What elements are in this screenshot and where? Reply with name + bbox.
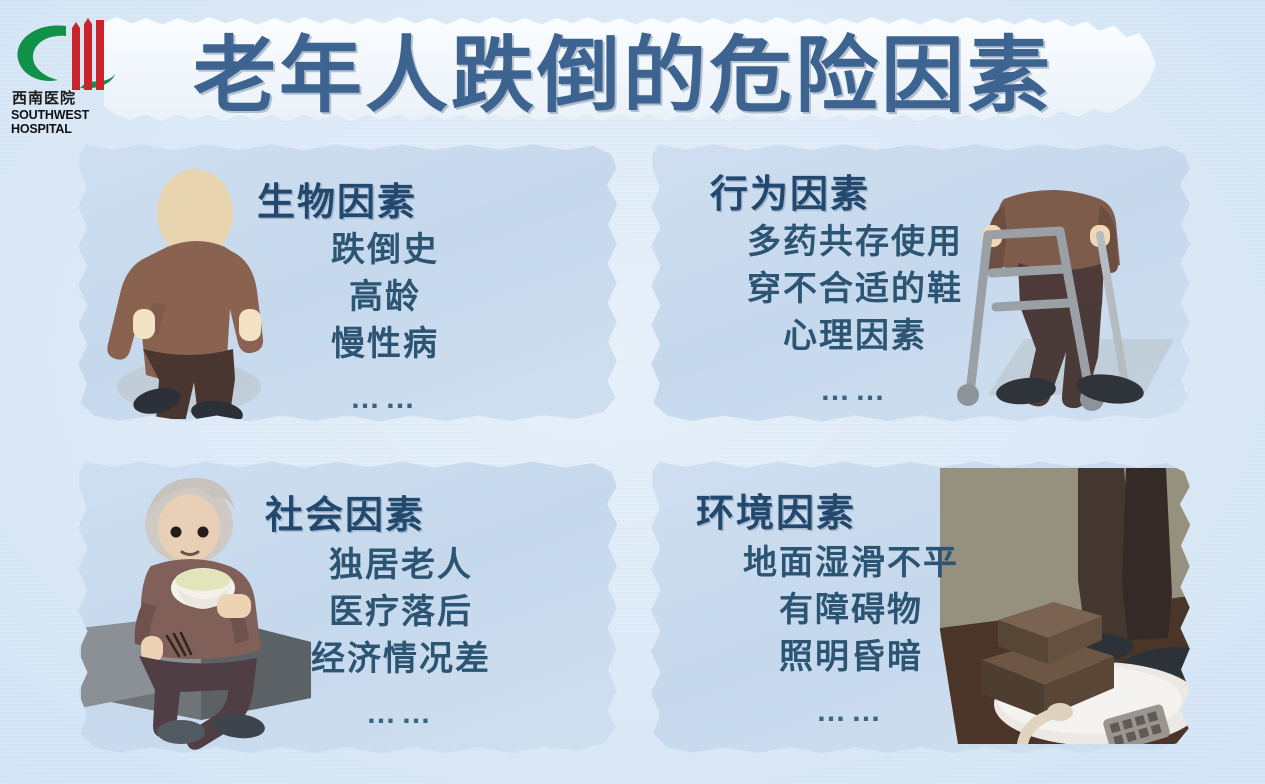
card-item: 心理因素 bbox=[783, 313, 927, 360]
factor-card-behavior[interactable]: 行为因素 多药共存使用 穿不合适的鞋 心理因素 …… bbox=[648, 143, 1193, 423]
poster-header: 老年人跌倒的危险因素 西南医院 SOUTHWEST HOSPITAL bbox=[0, 0, 1265, 136]
poster-root: 老年人跌倒的危险因素 西南医院 SOUTHWEST HOSPITAL bbox=[0, 0, 1265, 784]
card-heading-environment: 环境因素 bbox=[696, 482, 856, 537]
factor-card-social[interactable]: 社会因素 独居老人 医疗落后 经济情况差 …… bbox=[75, 460, 620, 755]
card-item: 多药共存使用 bbox=[747, 219, 963, 266]
card-item: 经济情况差 bbox=[311, 636, 491, 683]
factor-card-environment[interactable]: 环境因素 地面湿滑不平 有障碍物 照明昏暗 …… bbox=[648, 460, 1193, 755]
card-item: 穿不合适的鞋 bbox=[747, 266, 963, 313]
card-ellipsis: …… bbox=[816, 688, 886, 735]
card-item: 慢性病 bbox=[331, 321, 439, 368]
card-item: 医疗落后 bbox=[329, 589, 473, 636]
hospital-logo: 西南医院 SOUTHWEST HOSPITAL bbox=[8, 18, 140, 122]
card-items-social: 独居老人 医疗落后 经济情况差 …… bbox=[221, 542, 581, 737]
card-item: 地面湿滑不平 bbox=[743, 540, 959, 587]
logo-name-cn: 西南医院 bbox=[12, 90, 76, 107]
page-title: 老年人跌倒的危险因素 bbox=[118, 16, 1128, 120]
card-ellipsis: …… bbox=[820, 367, 890, 414]
card-item: 独居老人 bbox=[329, 542, 473, 589]
card-ellipsis: …… bbox=[366, 690, 436, 737]
card-items-environment: 地面湿滑不平 有障碍物 照明昏暗 …… bbox=[656, 540, 1046, 735]
card-item: 高龄 bbox=[349, 274, 421, 321]
hospital-logo-mark bbox=[12, 18, 136, 92]
card-item: 照明昏暗 bbox=[779, 634, 923, 681]
card-heading-bio: 生物因素 bbox=[257, 171, 417, 226]
card-heading-social: 社会因素 bbox=[265, 484, 425, 539]
card-items-behavior: 多药共存使用 穿不合适的鞋 心理因素 …… bbox=[660, 219, 1050, 414]
card-items-bio: 跌倒史 高龄 慢性病 …… bbox=[225, 227, 545, 422]
card-ellipsis: …… bbox=[350, 375, 420, 422]
card-heading-behavior: 行为因素 bbox=[710, 163, 870, 218]
card-item: 跌倒史 bbox=[331, 227, 439, 274]
factor-card-bio[interactable]: 生物因素 跌倒史 高龄 慢性病 …… bbox=[75, 143, 620, 423]
card-item: 有障碍物 bbox=[779, 587, 923, 634]
logo-name-en: SOUTHWEST HOSPITAL bbox=[11, 108, 140, 136]
